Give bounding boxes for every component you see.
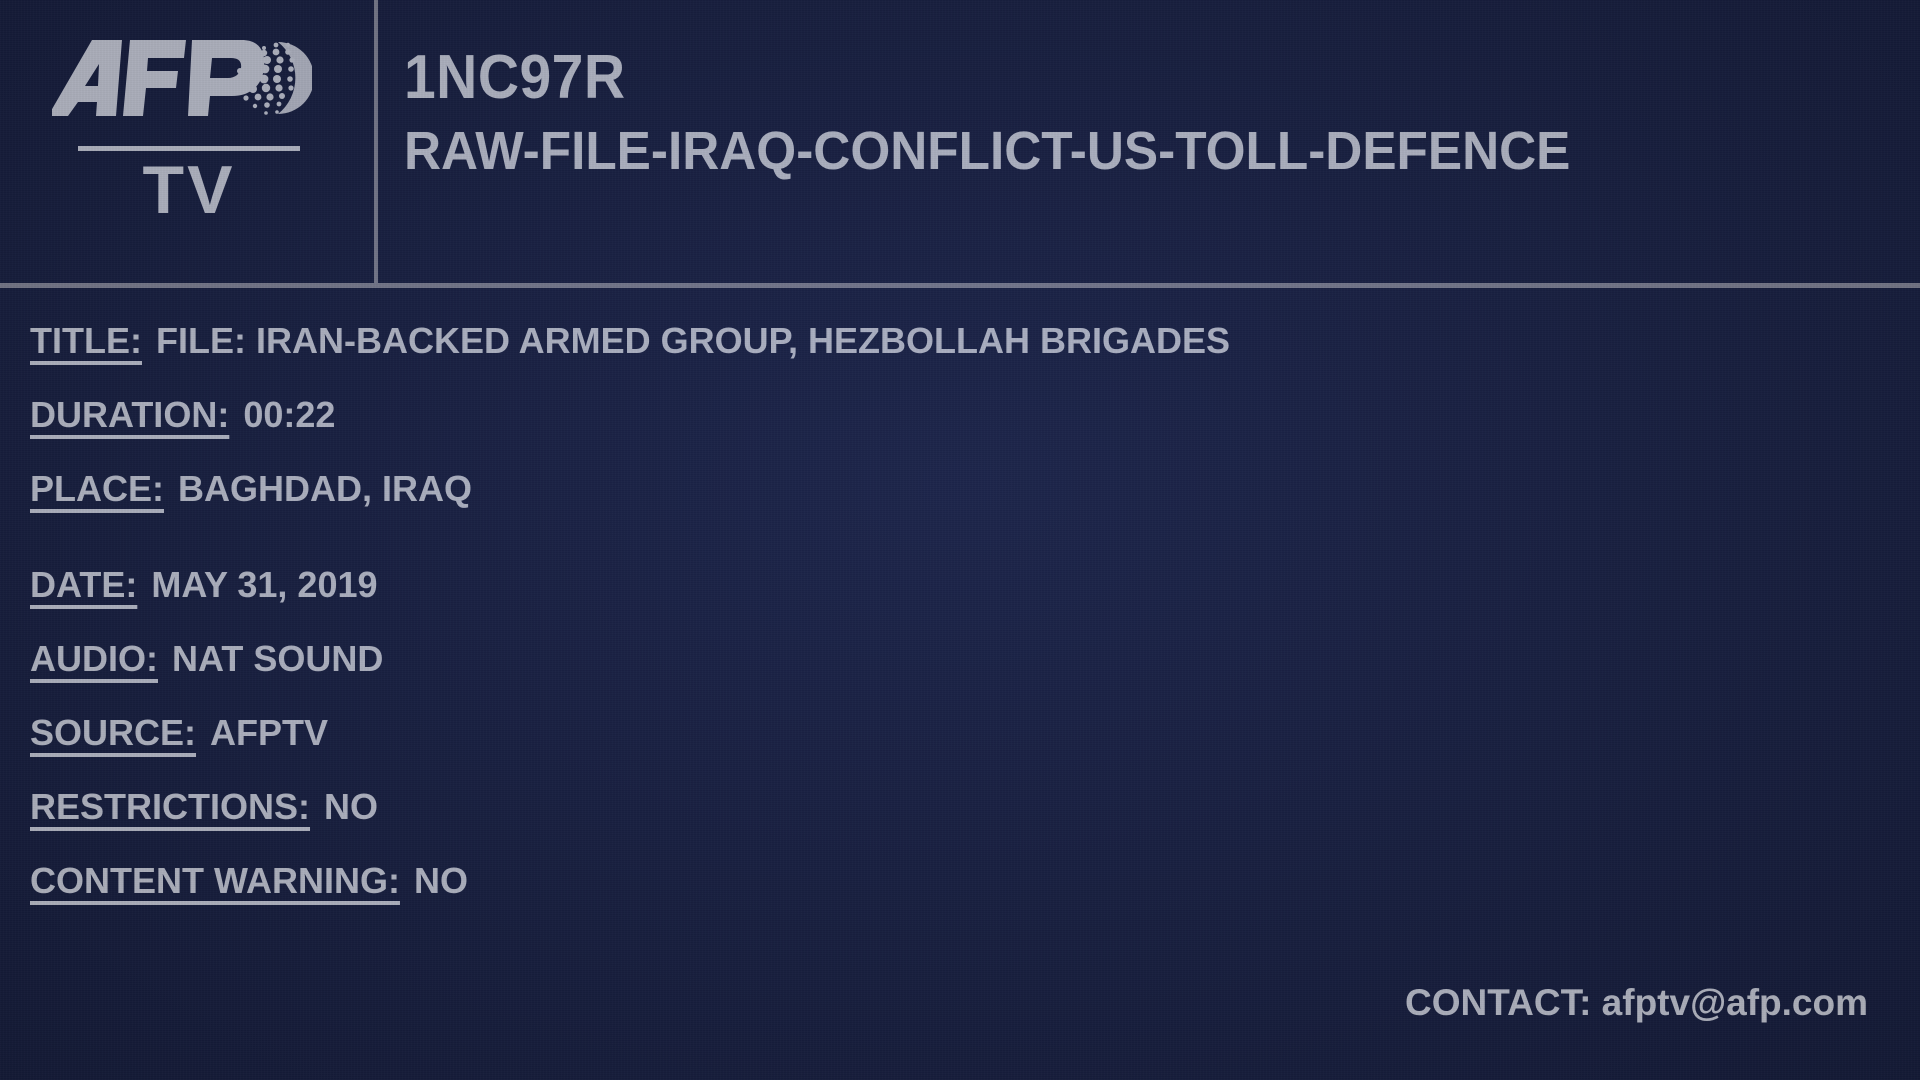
metadata-row-audio: AUDIO: NAT SOUND [30,638,1890,712]
metadata-row-date: DATE: MAY 31, 2019 [30,564,1890,638]
metadata-value-source: AFPTV [210,712,328,754]
metadata-row-content-warning: CONTENT WARNING: NO [30,860,1890,934]
metadata-value-date: MAY 31, 2019 [151,564,377,606]
contact-line: CONTACT: afptv@afp.com [1405,982,1868,1024]
afp-tv-sublabel: TV [78,156,300,224]
metadata-label-title: TITLE: [30,320,142,362]
metadata-row-place: PLACE: BAGHDAD, IRAQ [30,468,1890,542]
metadata-value-audio: NAT SOUND [172,638,383,680]
metadata-list: TITLE: FILE: IRAN-BACKED ARMED GROUP, HE… [30,320,1890,934]
metadata-row-restrictions: RESTRICTIONS: NO [30,786,1890,860]
slug-id: 1NC97R [404,45,1766,112]
metadata-label-source: SOURCE: [30,712,196,754]
header-horizontal-divider [0,283,1920,288]
metadata-row-source: SOURCE: AFPTV [30,712,1890,786]
metadata-value-duration: 00:22 [243,394,335,436]
header-vertical-divider [374,0,378,285]
metadata-value-restrictions: NO [324,786,378,828]
metadata-value-title: FILE: IRAN-BACKED ARMED GROUP, HEZBOLLAH… [156,320,1230,362]
slug-name: RAW-FILE-IRAQ-CONFLICT-US-TOLL-DEFENCE [404,122,1810,180]
logo-divider-rule [78,146,300,151]
afp-tv-logo: TV [0,0,375,285]
slate-header: TV 1NC97R RAW-FILE-IRAQ-CONFLICT-US-TOLL… [0,0,1920,285]
afp-logo-icon [52,28,312,128]
metadata-value-place: BAGHDAD, IRAQ [178,468,472,510]
slug-block: 1NC97R RAW-FILE-IRAQ-CONFLICT-US-TOLL-DE… [404,45,1884,180]
metadata-label-date: DATE: [30,564,137,606]
metadata-label-audio: AUDIO: [30,638,158,680]
metadata-row-title: TITLE: FILE: IRAN-BACKED ARMED GROUP, HE… [30,320,1890,394]
metadata-label-content-warning: CONTENT WARNING: [30,860,400,902]
metadata-row-duration: DURATION: 00:22 [30,394,1890,468]
metadata-value-content-warning: NO [414,860,468,902]
metadata-label-place: PLACE: [30,468,164,510]
metadata-label-restrictions: RESTRICTIONS: [30,786,310,828]
metadata-label-duration: DURATION: [30,394,229,436]
